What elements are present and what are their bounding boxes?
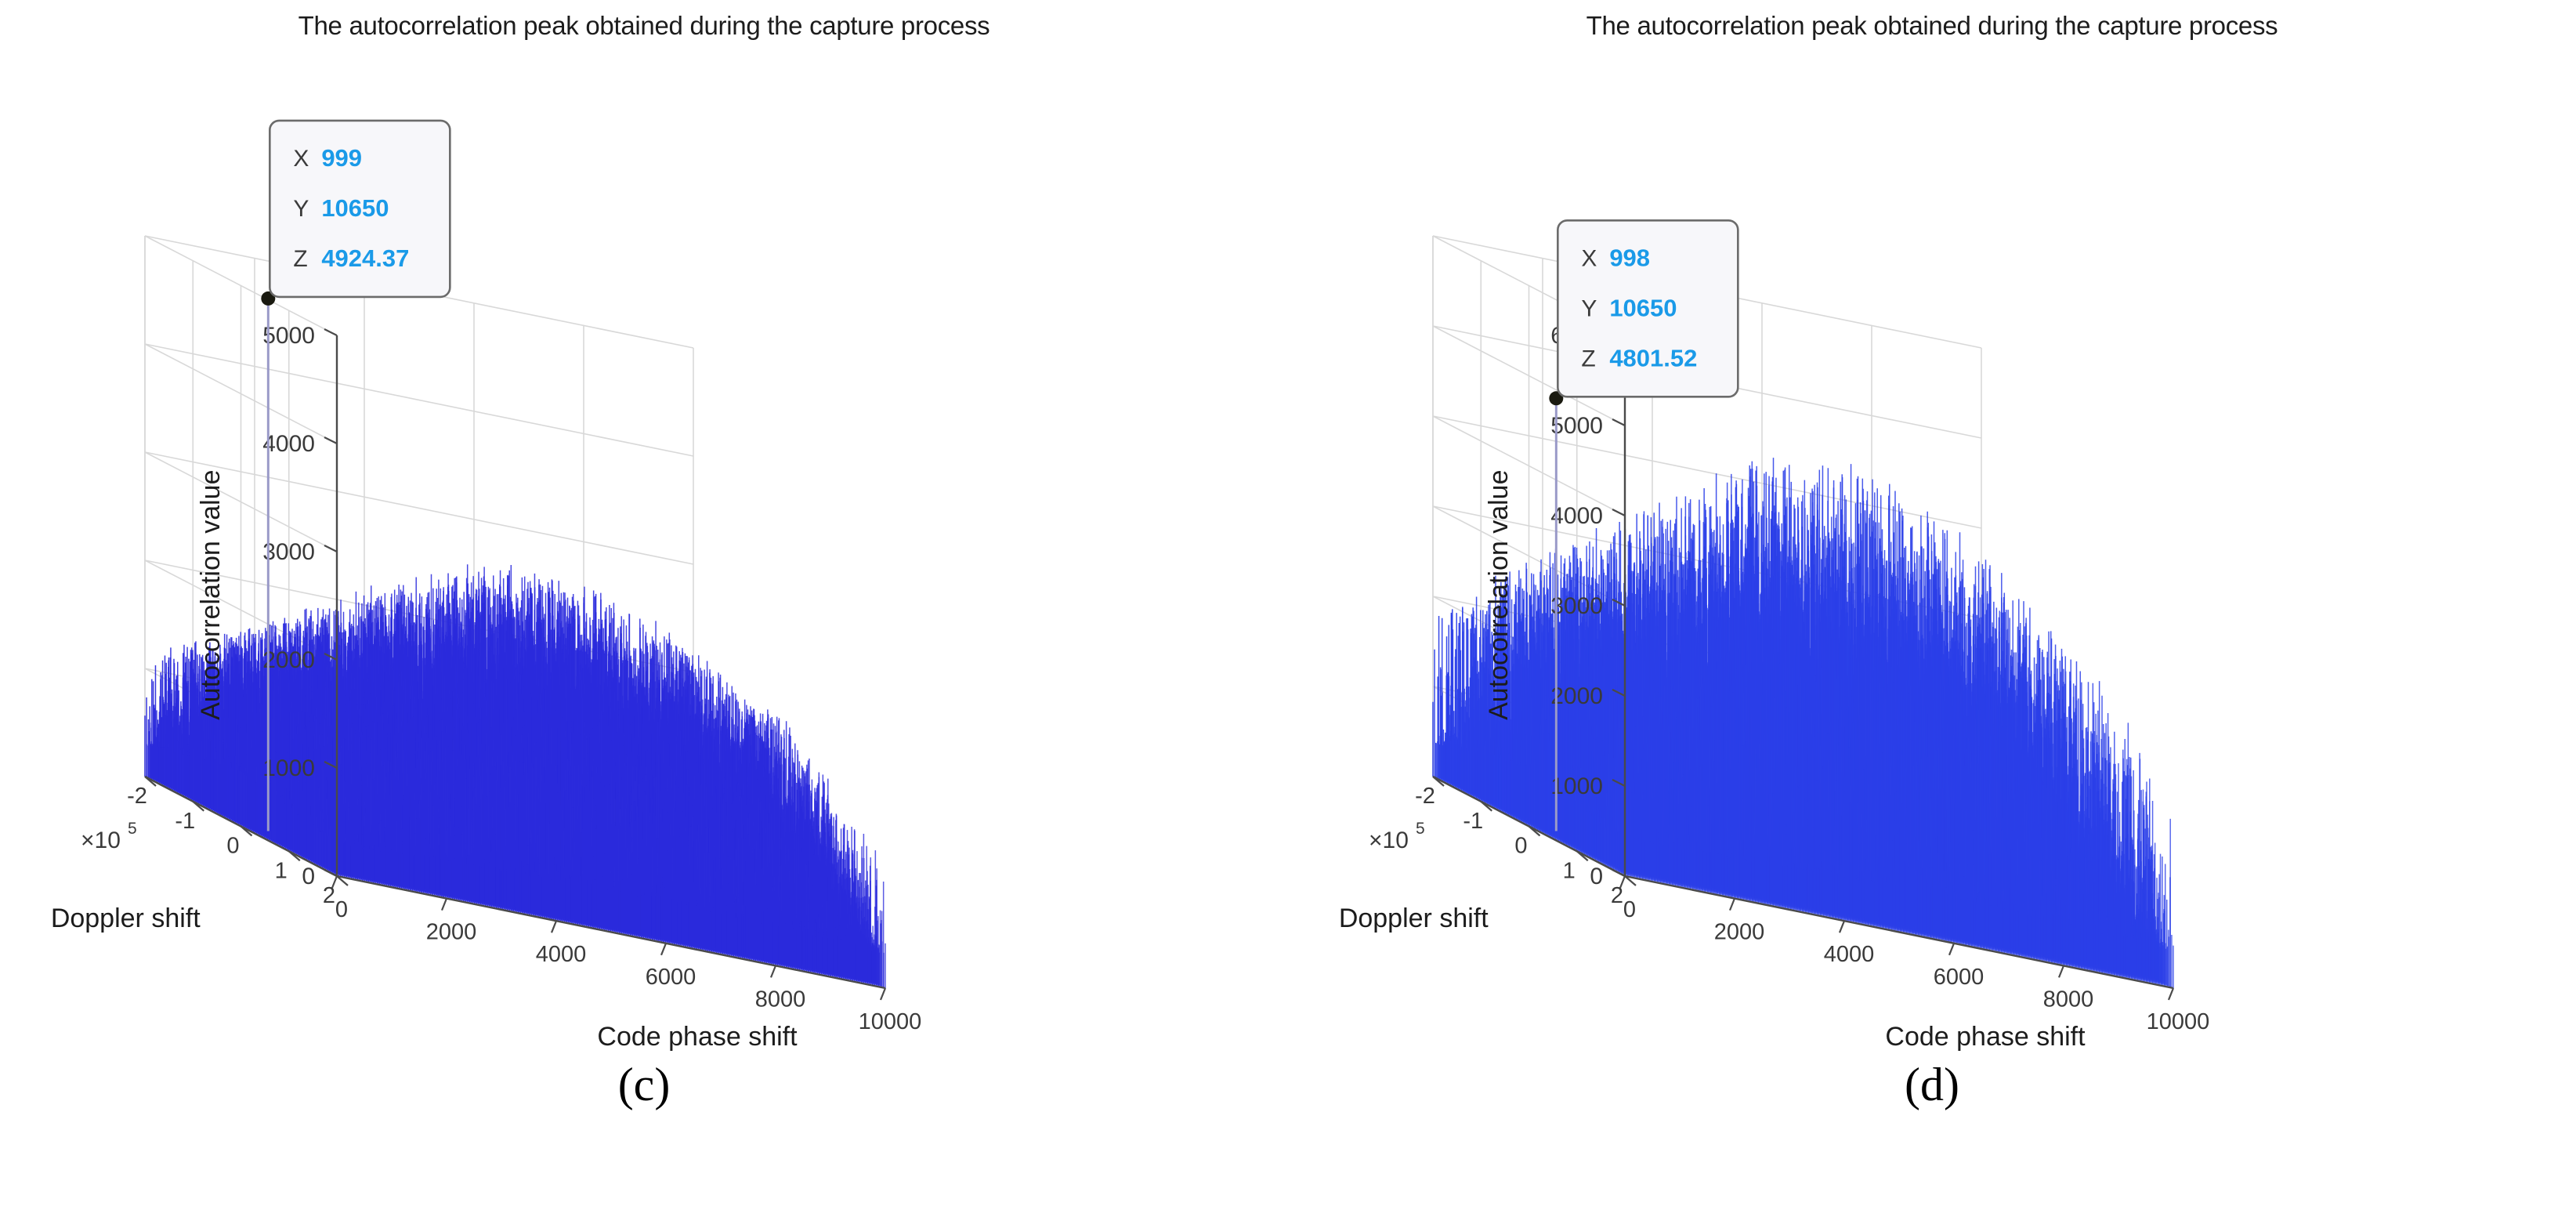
axes-3d-c: 010002000300040005000Autocorrelation val… <box>0 0 1288 1081</box>
panel-d: The autocorrelation peak obtained during… <box>1288 0 2576 1206</box>
caption-d: (d) <box>1288 1058 2576 1112</box>
surface-mesh <box>1433 458 2173 988</box>
caption-c: (c) <box>0 1058 1288 1112</box>
figure-root: The autocorrelation peak obtained during… <box>0 0 2576 1206</box>
axes-3d-d: 0100020003000400050006000Autocorrelation… <box>1288 0 2576 1081</box>
panel-c: The autocorrelation peak obtained during… <box>0 0 1288 1206</box>
surface-mesh <box>145 564 885 988</box>
